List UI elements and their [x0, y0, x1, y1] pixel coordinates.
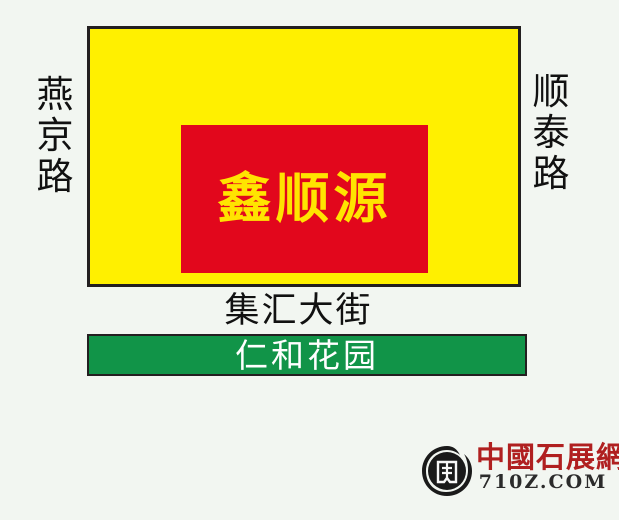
plot-sign-red: 鑫顺源: [181, 125, 428, 273]
road-label-yanjing-char-3: 路: [35, 156, 75, 197]
logo-site-url: 710Z.COM: [476, 472, 610, 493]
road-label-shuntai-char-1: 顺: [531, 71, 571, 112]
road-label-shuntai-road: 顺 泰 路: [531, 71, 571, 194]
plot-sign-label: 鑫顺源: [218, 172, 392, 226]
estate-bar-renhe-garden: 仁和花园: [87, 334, 527, 376]
street-label-jihui-street: 集汇大街: [0, 292, 597, 330]
site-logo: 中國石展網 710Z.COM: [420, 440, 610, 500]
logo-site-name: 中國石展網: [476, 442, 610, 473]
road-label-shuntai-char-2: 泰: [531, 112, 571, 153]
road-label-yanjing-char-2: 京: [35, 115, 75, 156]
road-label-yanjing-char-1: 燕: [35, 74, 75, 115]
logo-text-block: 中國石展網 710Z.COM: [476, 440, 610, 500]
estate-bar-label: 仁和花园: [235, 339, 379, 372]
road-label-shuntai-char-3: 路: [531, 153, 571, 194]
road-label-yanjing-road: 燕 京 路: [35, 74, 75, 197]
brush-circle-seal-icon: [420, 444, 474, 498]
site-location-diagram: 燕 京 路 鑫顺源 顺 泰 路 集汇大街 仁和花园 中國石展網 710Z.COM: [0, 0, 619, 503]
